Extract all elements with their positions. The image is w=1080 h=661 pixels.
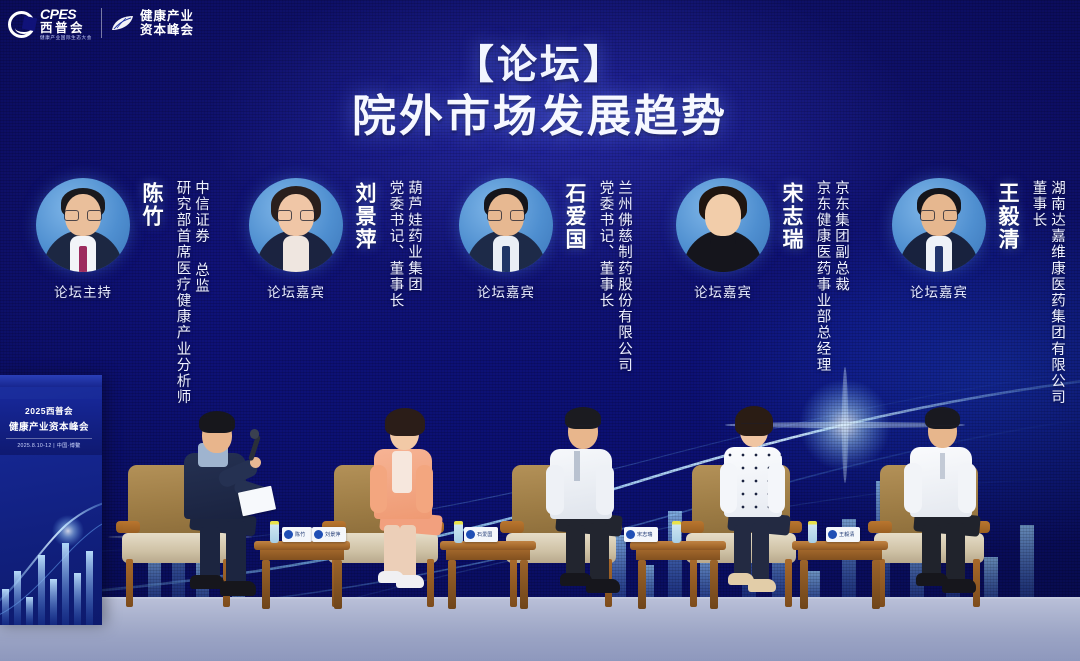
panelist-title-3-0: 京东集团副总裁 bbox=[834, 180, 849, 373]
side-table-1: 石爱国 bbox=[440, 515, 536, 609]
panelist-titles-1: 葫芦娃药业集团 党委书记、董事长 bbox=[384, 180, 421, 309]
panelist-name-1: 刘景萍 bbox=[349, 182, 379, 251]
cpes-logo-cn: 西普会 bbox=[40, 22, 92, 35]
panelist-card-0: 论坛主持 陈竹 中信证券 总监 研究部首席医疗健康产业分析师 bbox=[32, 178, 208, 405]
podium-banner: 2025西普会 健康产业资本峰会 2025.8.10-12 | 中国·博鳌 bbox=[0, 399, 102, 455]
glasses-icon bbox=[920, 210, 958, 221]
summit-logo: 健康产业 资本峰会 bbox=[111, 9, 194, 37]
panelist-role-0: 论坛主持 bbox=[54, 281, 112, 301]
panelist-avatar-col-3: 论坛嘉宾 bbox=[672, 178, 774, 301]
logo-divider bbox=[101, 8, 102, 38]
conference-stage-photo: CPES 西普会 健康产业国际生态大会 健康产业 资本峰会 【论坛】 院外市场发… bbox=[0, 0, 1080, 661]
nameplate-logo-icon bbox=[626, 530, 635, 539]
nameplate-logo-icon bbox=[284, 530, 293, 539]
event-logo-bar: CPES 西普会 健康产业国际生态大会 健康产业 资本峰会 bbox=[0, 0, 270, 46]
nameplate-text-4: 王毅清 bbox=[839, 531, 855, 538]
avatar bbox=[676, 178, 770, 272]
nameplate-text-2: 石爱国 bbox=[477, 531, 493, 538]
panelist-avatar-col-0: 论坛主持 bbox=[32, 178, 134, 301]
panelist-role-4: 论坛嘉宾 bbox=[910, 281, 968, 301]
nameplate-text-3: 宋志瑞 bbox=[637, 531, 653, 538]
nameplate-logo-icon bbox=[466, 530, 475, 539]
cpes-logo-sub: 健康产业国际生态大会 bbox=[40, 36, 92, 41]
panelist-titles-3: 京东集团副总裁 京东健康医药事业部总经理 bbox=[811, 180, 848, 373]
panelist-title-2-1: 党委书记、董事长 bbox=[598, 180, 613, 373]
summit-logo-line1: 健康产业 bbox=[140, 9, 194, 23]
panelist-card-1: 论坛嘉宾 刘景萍 葫芦娃药业集团 党委书记、董事长 bbox=[245, 178, 421, 309]
water-bottle bbox=[808, 521, 817, 543]
leaf-logo-icon bbox=[111, 15, 135, 32]
panelist-name-0: 陈竹 bbox=[136, 182, 166, 228]
panelist-title-0-1: 研究部首席医疗健康产业分析师 bbox=[175, 180, 190, 405]
side-table-3: 王毅清 bbox=[792, 515, 888, 609]
avatar bbox=[249, 178, 343, 272]
panelist-titles-4: 湖南达嘉维康医药集团有限公司 董事长 bbox=[1027, 180, 1064, 405]
panelist-name-3: 宋志瑞 bbox=[776, 182, 806, 251]
cpes-circle-logo-icon bbox=[8, 11, 35, 38]
water-bottle bbox=[672, 521, 681, 543]
nameplate-text-0: 陈竹 bbox=[295, 531, 305, 538]
nameplate-logo-icon bbox=[828, 530, 837, 539]
avatar bbox=[892, 178, 986, 272]
panelist-title-3-1: 京东健康医药事业部总经理 bbox=[815, 180, 830, 373]
panelist-title-1-1: 党委书记、董事长 bbox=[388, 180, 403, 309]
cpes-logo-text: CPES 西普会 健康产业国际生态大会 bbox=[40, 7, 92, 41]
summit-logo-text: 健康产业 资本峰会 bbox=[140, 9, 194, 37]
summit-logo-line2: 资本峰会 bbox=[140, 23, 194, 37]
podium-top bbox=[0, 375, 102, 387]
panelist-avatar-col-1: 论坛嘉宾 bbox=[245, 178, 347, 301]
forum-title-line2: 院外市场发展趋势 bbox=[0, 91, 1080, 144]
podium-chart-graphic bbox=[0, 485, 102, 625]
panelist-title-0-0: 中信证券 总监 bbox=[194, 180, 209, 405]
panelist-avatar-col-2: 论坛嘉宾 bbox=[455, 178, 557, 301]
water-bottle bbox=[454, 521, 463, 543]
panelist-titles-0: 中信证券 总监 研究部首席医疗健康产业分析师 bbox=[171, 180, 208, 405]
seated-panelist-4 bbox=[884, 409, 1009, 609]
glasses-icon bbox=[487, 210, 525, 221]
panelist-avatar-col-4: 论坛嘉宾 bbox=[888, 178, 990, 301]
forum-title-line1: 【论坛】 bbox=[0, 42, 1080, 89]
side-table-0: 陈竹 刘景萍 bbox=[254, 515, 350, 609]
podium-banner-line3: 2025.8.10-12 | 中国·博鳌 bbox=[6, 438, 92, 449]
panelist-card-4: 论坛嘉宾 王毅清 湖南达嘉维康医药集团有限公司 董事长 bbox=[888, 178, 1064, 405]
panelist-card-2: 论坛嘉宾 石爱国 兰州佛慈制药股份有限公司 党委书记、董事长 bbox=[455, 178, 631, 373]
panelist-titles-2: 兰州佛慈制药股份有限公司 党委书记、董事长 bbox=[594, 180, 631, 373]
glasses-icon bbox=[64, 210, 102, 221]
water-bottle bbox=[270, 521, 279, 543]
nameplate-2: 石爱国 bbox=[464, 527, 498, 542]
seated-panelist-2 bbox=[518, 409, 643, 609]
panelist-card-3: 论坛嘉宾 宋志瑞 京东集团副总裁 京东健康医药事业部总经理 bbox=[672, 178, 848, 373]
nameplate-logo-icon bbox=[314, 530, 323, 539]
panelist-title-2-0: 兰州佛慈制药股份有限公司 bbox=[617, 180, 632, 373]
forum-title-block: 【论坛】 院外市场发展趋势 bbox=[0, 42, 1080, 144]
panelist-role-1: 论坛嘉宾 bbox=[267, 281, 325, 301]
nameplate-1: 刘景萍 bbox=[312, 527, 346, 542]
panelist-name-4: 王毅清 bbox=[992, 182, 1022, 251]
nameplate-0: 陈竹 bbox=[282, 527, 312, 542]
nameplate-3: 宋志瑞 bbox=[624, 527, 658, 542]
avatar bbox=[36, 178, 130, 272]
glasses-icon bbox=[277, 210, 315, 221]
panelist-name-2: 石爱国 bbox=[559, 182, 589, 251]
podium-banner-line2: 健康产业资本峰会 bbox=[9, 419, 89, 433]
nameplate-text-1: 刘景萍 bbox=[325, 531, 341, 538]
panelist-role-2: 论坛嘉宾 bbox=[477, 281, 535, 301]
panelist-title-4-1: 董事长 bbox=[1031, 180, 1046, 405]
nameplate-4: 王毅清 bbox=[826, 527, 860, 542]
panelist-role-3: 论坛嘉宾 bbox=[694, 281, 752, 301]
panelist-title-4-0: 湖南达嘉维康医药集团有限公司 bbox=[1050, 180, 1065, 405]
side-table-2: 宋志瑞 bbox=[630, 515, 726, 609]
podium-banner-line1: 2025西普会 bbox=[25, 405, 73, 417]
cpes-logo-en: CPES bbox=[40, 7, 92, 21]
avatar bbox=[459, 178, 553, 272]
cpes-logo: CPES 西普会 健康产业国际生态大会 bbox=[0, 5, 92, 41]
panelist-title-1-0: 葫芦娃药业集团 bbox=[407, 180, 422, 309]
panel-seating-area: 陈竹 刘景萍 bbox=[0, 391, 1080, 661]
podium: 2025西普会 健康产业资本峰会 2025.8.10-12 | 中国·博鳌 bbox=[0, 375, 102, 625]
